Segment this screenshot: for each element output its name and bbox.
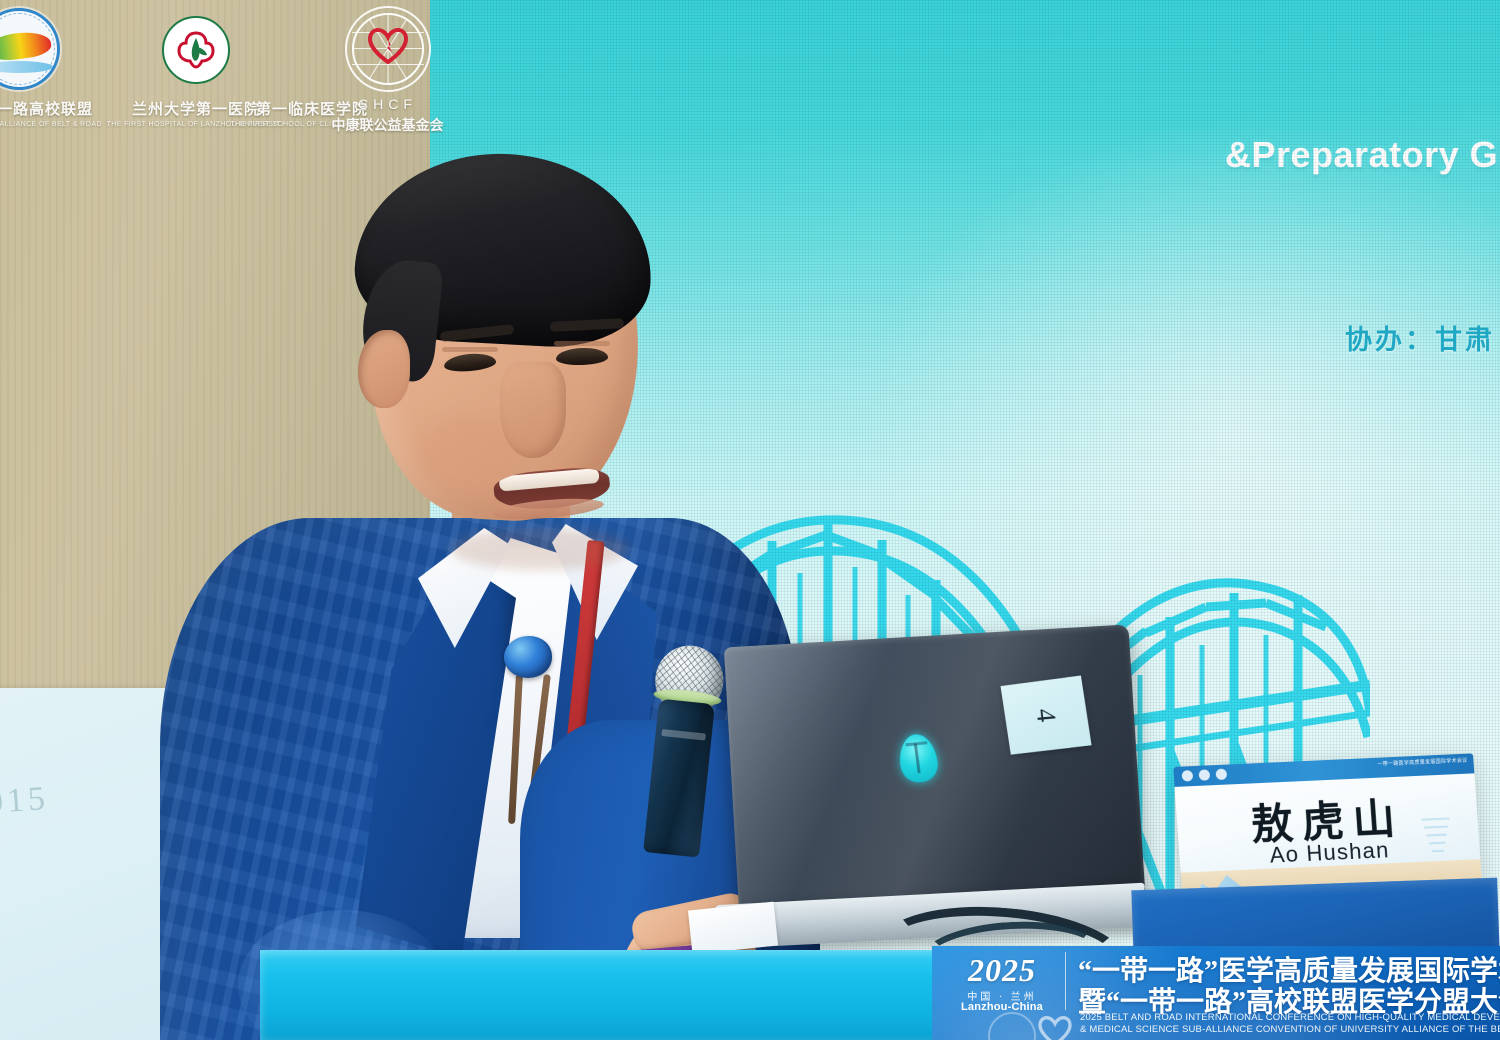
banner-divider bbox=[1065, 952, 1066, 1010]
logo-belt-road-alliance bbox=[0, 8, 60, 90]
name-card-logo-dot-2 bbox=[1198, 769, 1210, 780]
name-card-logo-dot-3 bbox=[1215, 769, 1227, 780]
banner-city-en: Lanzhou-China bbox=[946, 1001, 1058, 1013]
podium: 2025 中国 · 兰州 Lanzhou-China “一带一路”医学高质量发展… bbox=[260, 950, 1500, 1040]
chcf-heart-icon bbox=[368, 28, 408, 64]
podium-banner: 2025 中国 · 兰州 Lanzhou-China “一带一路”医学高质量发展… bbox=[932, 946, 1500, 1040]
banner-title-en-line2: & MEDICAL SCIENCE SUB-ALLIANCE CONVENTIO… bbox=[1080, 1024, 1500, 1035]
pagoda-icon bbox=[1415, 806, 1458, 854]
speaker-eyelid-left bbox=[442, 347, 498, 352]
laptop-number-sticker: 4 bbox=[1001, 675, 1092, 754]
logo4-name-cn: 中康联公益基金会 bbox=[330, 115, 445, 135]
bolo-tie-stone bbox=[504, 636, 552, 678]
conference-photo-scene: 015 bbox=[0, 0, 1500, 1040]
sponsor-logo-strip: 一路高校联盟 TY ALLIANCE OF BELT & ROAD 兰州大学第一… bbox=[0, 0, 470, 140]
speaker-nose bbox=[500, 362, 566, 458]
whiteboard-marking: 015 bbox=[0, 780, 50, 822]
podium-front-panel bbox=[260, 950, 960, 1040]
name-card-header-text: 一带一路医学高质量发展国际学术会议 bbox=[1377, 758, 1468, 770]
name-card-logo-dot-1 bbox=[1181, 770, 1193, 781]
speaker-eyelid-right bbox=[554, 341, 610, 346]
speaker-chin-shadow bbox=[450, 528, 630, 570]
banner-year: 2025 bbox=[946, 952, 1058, 989]
logo-chcf bbox=[345, 6, 431, 92]
speaker-figure: 特邀嘉宾 INVITED GUEST 敖虎山 Ao Hushan bbox=[120, 140, 820, 1040]
logo-lanzhou-hospital bbox=[162, 16, 230, 84]
presenter-laptop[interactable]: 4 bbox=[720, 636, 1150, 956]
chcf-globe-heart-emblem-icon bbox=[345, 6, 431, 92]
backdrop-co-organizer-line: 协办：甘肃 bbox=[1345, 318, 1495, 357]
hospital-cross-emblem-icon bbox=[162, 16, 230, 84]
backdrop-heading-en-line2: &Preparatory Group Working Meeting o bbox=[1225, 134, 1500, 176]
laptop-lid: 4 bbox=[724, 624, 1146, 909]
speaker-ear bbox=[358, 330, 410, 408]
banner-heart-icon bbox=[1038, 1016, 1072, 1040]
logo-chcf-caption: CHCF 中康联公益基金会 bbox=[330, 94, 445, 135]
belt-road-alliance-emblem-icon bbox=[0, 8, 60, 90]
logo4-name-en: CHCF bbox=[330, 96, 445, 112]
paper-on-podium bbox=[688, 902, 778, 955]
banner-title-en-line1: 2025 BELT AND ROAD INTERNATIONAL CONFERE… bbox=[1080, 1012, 1500, 1023]
microphone-body bbox=[643, 699, 715, 858]
laptop-sticker-number: 4 bbox=[1029, 707, 1062, 723]
